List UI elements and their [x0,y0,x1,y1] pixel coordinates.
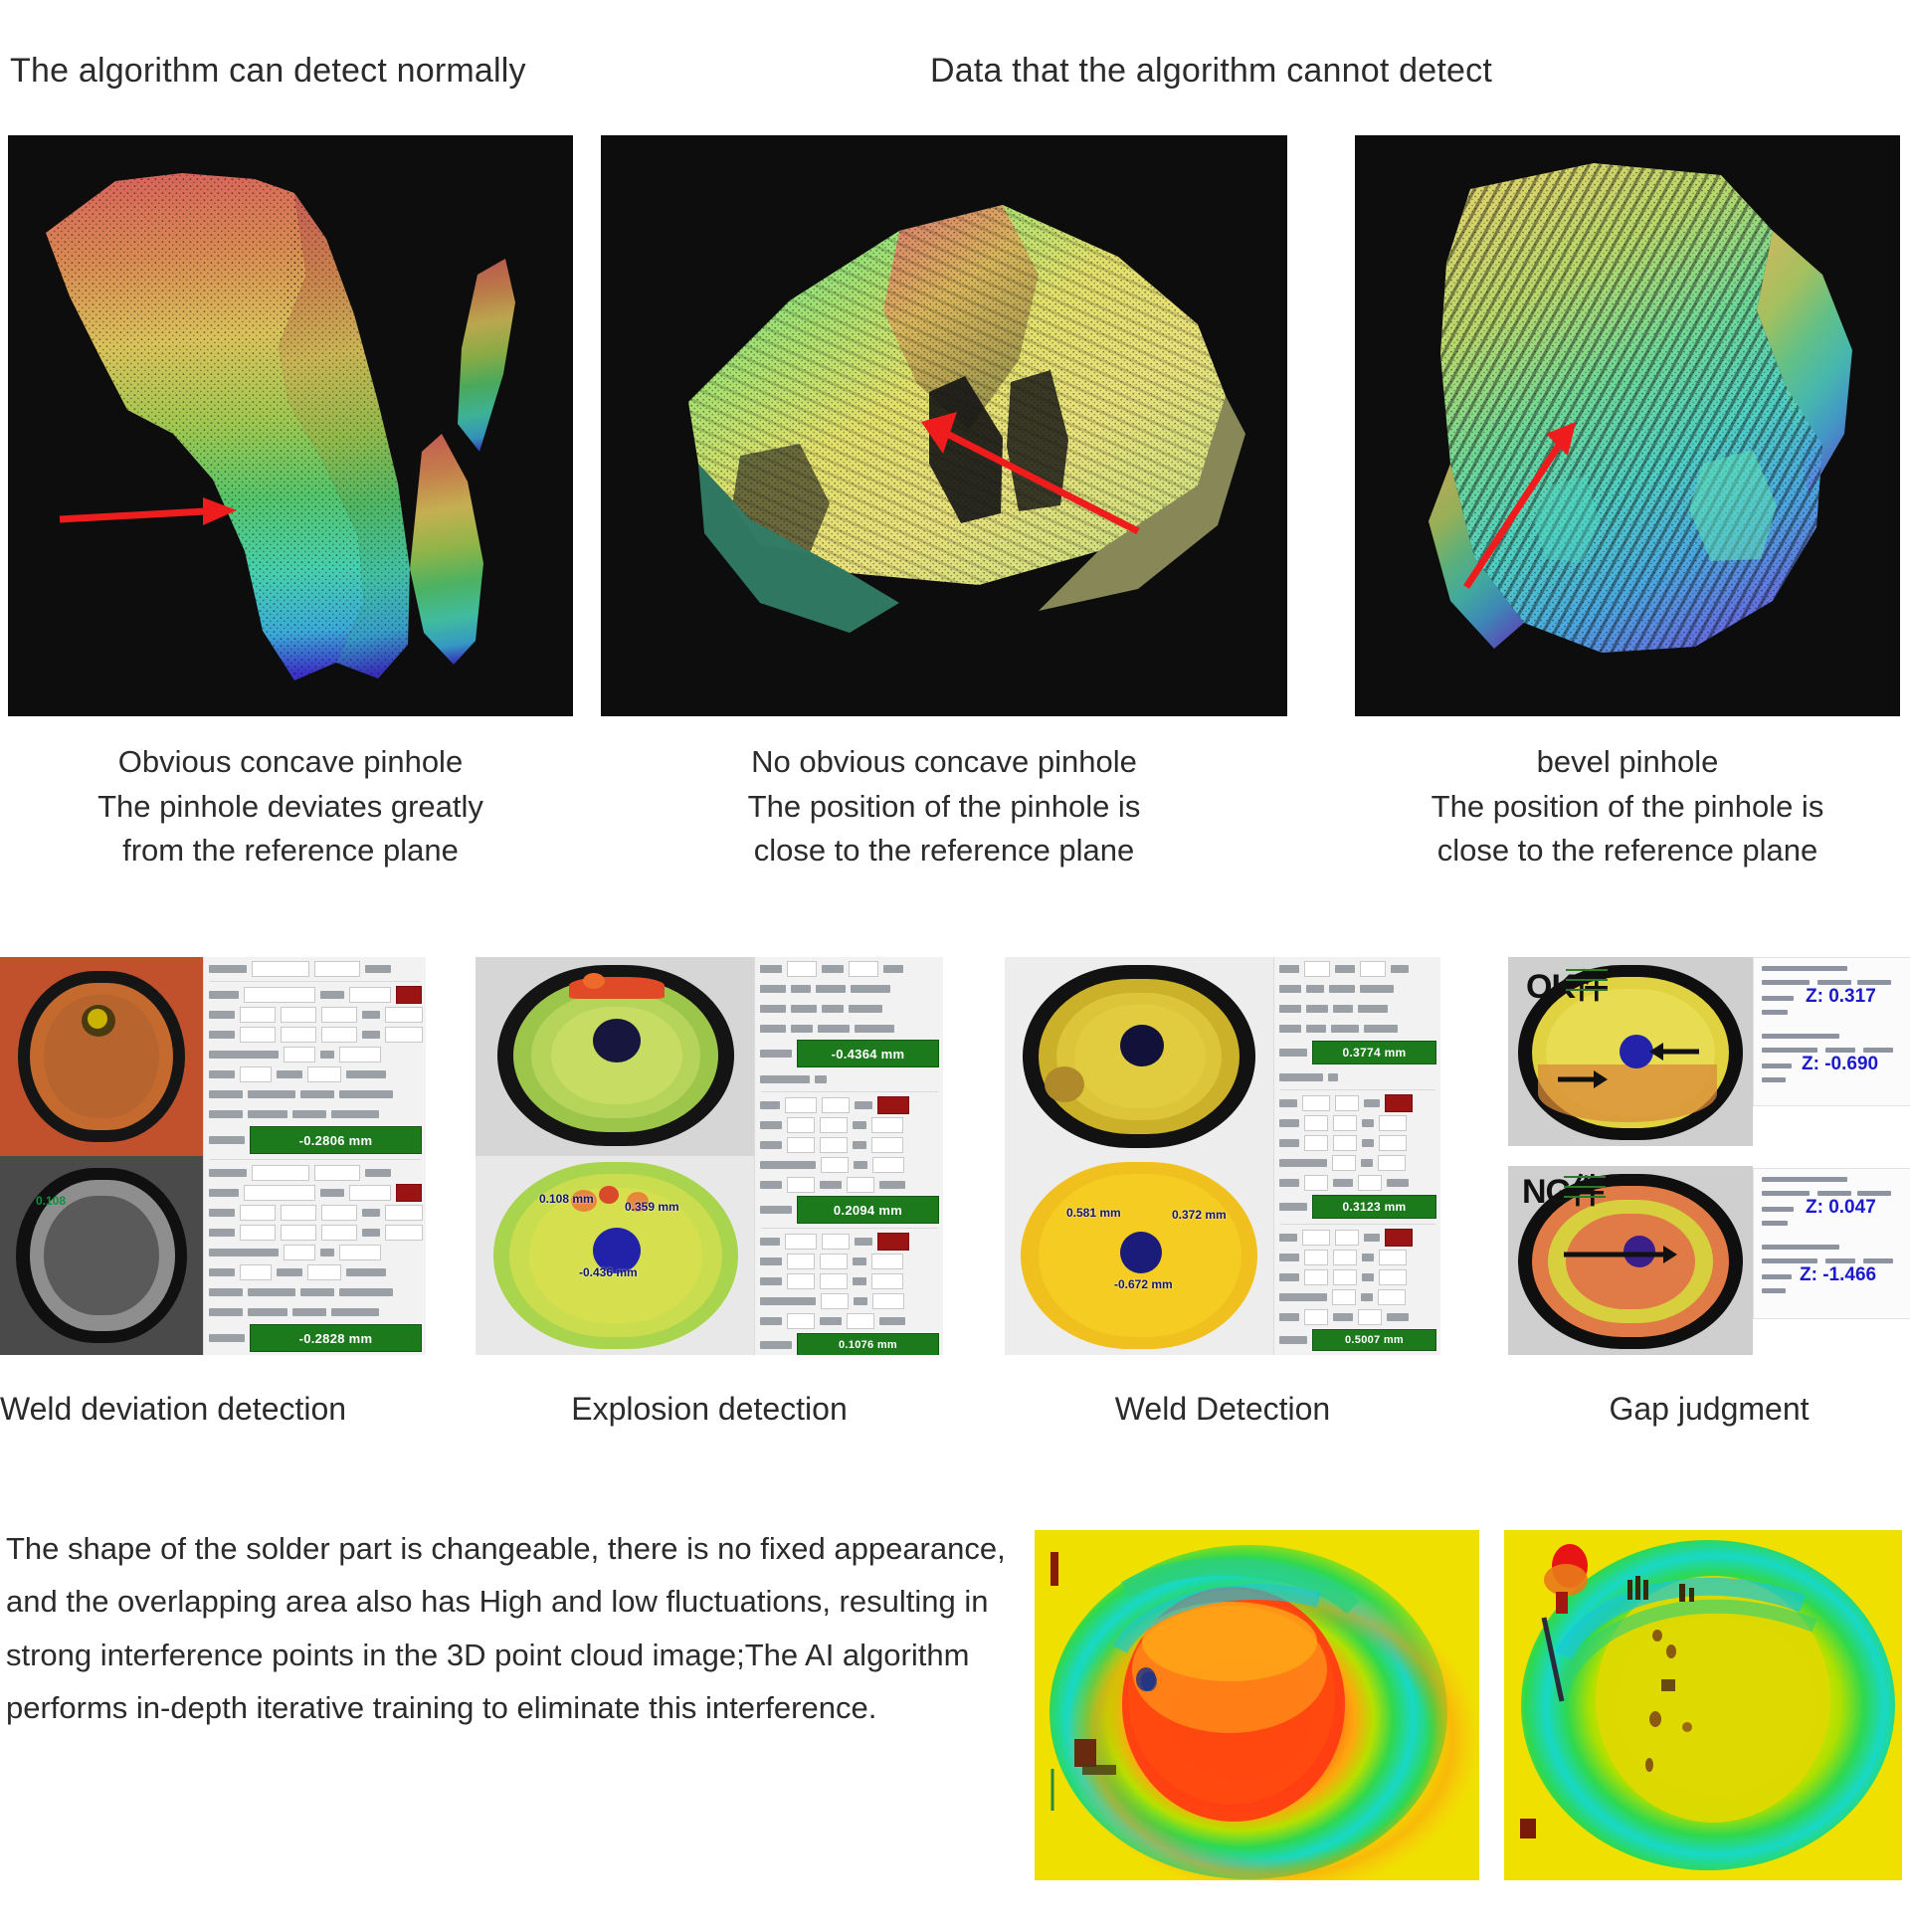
caption-obvious-concave-pinhole: Obvious concave pinhole The pinhole devi… [8,740,573,873]
right-arrow-icon-ng [1562,1244,1681,1265]
detection-panel-explosion-detection: 0.108 mm 0.359 mm -0.436 mm -0.4364 mm 0… [476,957,943,1355]
thumbnail-weld-detection-top [1005,957,1273,1156]
heatmap-panel-solder-red-center [1035,1530,1479,1880]
measurement-value: 0.3123 mm [1312,1195,1436,1219]
heatmap-render-1 [1035,1530,1479,1880]
heatmap-panel-solder-yellow-center [1504,1530,1902,1880]
caption-line: The pinhole deviates greatly [8,785,573,830]
annotation-value: 0.372 mm [1172,1208,1227,1222]
right-arrow-icon-ok [1556,1068,1610,1090]
caption-line: The position of the pinhole is [601,785,1287,830]
z-value-ng-bottom: Z: -1.466 [1800,1264,1876,1286]
caption-line: close to the reference plane [601,829,1287,873]
thumbnail-gap-ok: OK件 [1508,957,1753,1146]
inspection-ui-pane-explosion[interactable]: -0.4364 mm 0.2094 mm 0.1076 mm [754,957,943,1355]
measurement-value: 0.3774 mm [1312,1041,1436,1064]
measurement-value: -0.2806 mm [250,1126,422,1154]
caption-line: close to the reference plane [1355,829,1900,873]
caption-line: Obvious concave pinhole [8,740,573,785]
summary-paragraph: The shape of the solder part is changeab… [6,1522,1011,1734]
z-value-ok-bottom: Z: -0.690 [1802,1054,1878,1075]
measurement-value: 0.2094 mm [797,1196,939,1224]
detection-caption-weld-deviation-detection: Weld deviation detection [0,1391,426,1428]
measurement-value: -0.4364 mm [797,1040,939,1067]
annotation-value: -0.672 mm [1114,1277,1173,1291]
pointcloud-render-3 [1355,135,1900,716]
caption-line: bevel pinhole [1355,740,1900,785]
section-header-undetectable: Data that the algorithm cannot detect [930,52,1492,91]
caption-line: from the reference plane [8,829,573,873]
annotation-value: 0.108 mm [539,1192,594,1206]
inspection-ui-pane-weld-detection[interactable]: 0.3774 mm 0.3123 mm 0.5007 mm [1273,957,1440,1355]
detection-caption-weld-detection: Weld Detection [1005,1391,1440,1428]
detection-caption-explosion-detection: Explosion detection [476,1391,943,1428]
pointcloud-render-2 [601,135,1287,716]
measurement-value: 0.1076 mm [797,1333,939,1355]
inspection-ui-pane-weld-deviation[interactable]: -0.2806 mm -0.2828 mm [203,957,426,1355]
measurement-value: -0.2828 mm [250,1324,422,1352]
thumbnail-gap-ng: NG件 [1508,1166,1753,1355]
thumbnail-weld-gray: 0.108 [0,1156,203,1355]
pointcloud-panel-bevel-pinhole [1355,135,1900,716]
caption-bevel-pinhole: bevel pinhole The position of the pinhol… [1355,740,1900,873]
left-arrow-icon-ok [1647,1041,1701,1063]
gap-readout-ok[interactable]: Z: 0.317 Z: -0.690 [1753,957,1910,1106]
annotation-value: 0.359 mm [625,1200,679,1214]
pointcloud-panel-obvious-concave-pinhole [8,135,573,716]
annotation-value: -0.436 mm [579,1265,638,1279]
pointcloud-render-1 [8,135,573,716]
detection-caption-gap-judgment: Gap judgment [1508,1391,1910,1428]
detection-panel-weld-detection: 0.581 mm 0.372 mm -0.672 mm 0.3774 mm 0.… [1005,957,1440,1355]
caption-no-obvious-concave-pinhole: No obvious concave pinhole The position … [601,740,1287,873]
z-value-ok-top: Z: 0.317 [1806,986,1876,1008]
heatmap-render-2 [1504,1530,1902,1880]
pointcloud-panel-no-obvious-concave-pinhole [601,135,1287,716]
measurement-value: 0.5007 mm [1312,1329,1436,1351]
z-value-ng-top: Z: 0.047 [1806,1197,1876,1219]
thumbnail-explosion-top [476,957,754,1156]
thumbnail-weld-orange [0,957,203,1156]
caption-line: No obvious concave pinhole [601,740,1287,785]
section-header-detectable: The algorithm can detect normally [10,52,526,91]
thumbnail-explosion-bottom: 0.108 mm 0.359 mm -0.436 mm [476,1156,754,1355]
detection-panel-gap-judgment: OK件 Z: 0.317 Z: -0.690 NG件 [1508,957,1910,1355]
annotation-value: 0.581 mm [1066,1206,1121,1220]
status-badge-ng: NG件 [1522,1166,1604,1213]
gap-readout-ng[interactable]: Z: 0.047 Z: -1.466 [1753,1168,1910,1319]
caption-line: The position of the pinhole is [1355,785,1900,830]
thumbnail-weld-detection-bottom: 0.581 mm 0.372 mm -0.672 mm [1005,1156,1273,1355]
detection-panel-weld-deviation-detection: 0.108 -0.2806 mm -0.2828 mm [0,957,426,1355]
status-badge-ok: OK件 [1526,959,1608,1008]
